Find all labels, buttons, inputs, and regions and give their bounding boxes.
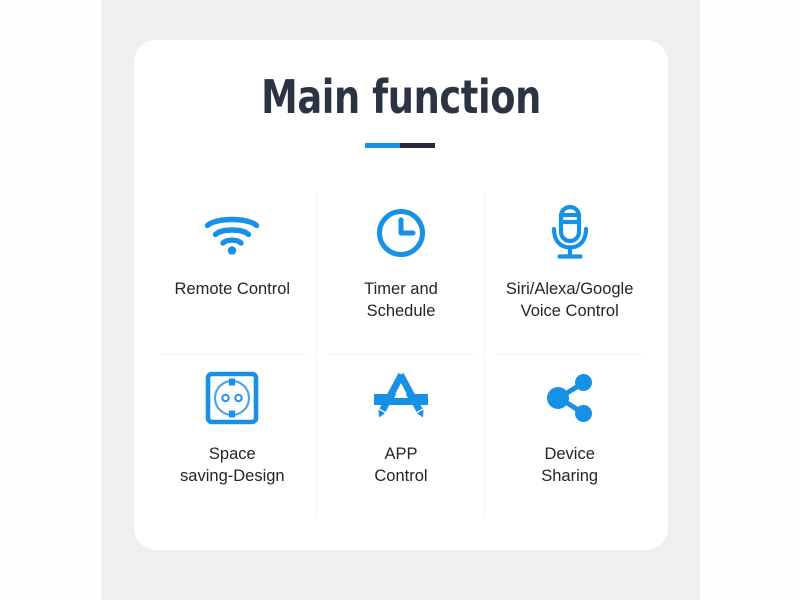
feature-item-voice-control[interactable]: Siri/Alexa/Google Voice Control (485, 190, 654, 355)
main-function-card: Main function Remote C (134, 40, 668, 550)
feature-label: Space saving-Design (180, 443, 285, 487)
feature-item-app-control[interactable]: APP Control (317, 355, 486, 520)
feature-label: Device Sharing (541, 443, 598, 487)
feature-label: Siri/Alexa/Google Voice Control (506, 278, 633, 322)
feature-label: Remote Control (175, 278, 291, 300)
feature-item-timer-and-schedule[interactable]: Timer and Schedule (317, 190, 486, 355)
microphone-icon (546, 202, 594, 264)
power-socket-icon (205, 367, 259, 429)
feature-grid: Remote Control Timer and Schedule (148, 190, 654, 520)
feature-label: APP Control (374, 443, 427, 487)
title-underline-dark-segment (400, 143, 435, 148)
title-underline-blue-segment (365, 143, 400, 148)
feature-label: Timer and Schedule (364, 278, 438, 322)
wifi-icon (203, 202, 261, 264)
clock-icon (375, 202, 427, 264)
feature-item-space-saving-design[interactable]: Space saving-Design (148, 355, 317, 520)
app-store-icon (372, 367, 430, 429)
page-title: Main function (187, 70, 614, 124)
feature-item-remote-control[interactable]: Remote Control (148, 190, 317, 355)
screenshot-root: Main function Remote C (0, 0, 800, 600)
share-nodes-icon (542, 367, 598, 429)
title-underline (365, 143, 435, 148)
feature-item-device-sharing[interactable]: Device Sharing (485, 355, 654, 520)
